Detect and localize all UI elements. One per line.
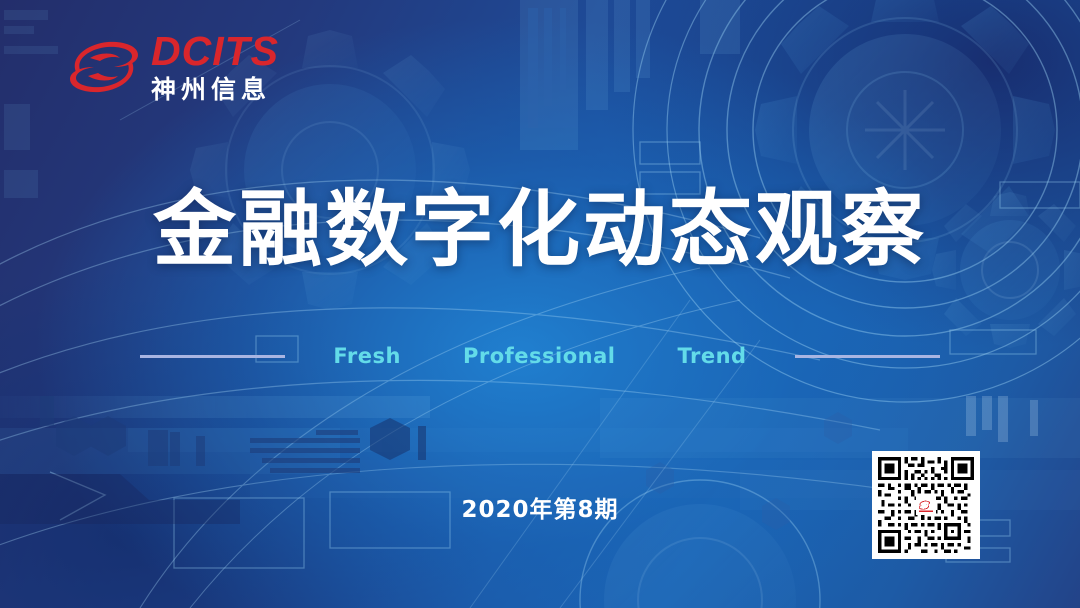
poster-canvas: DCITS 神州信息 金融数字化动态观察 Fresh Professional … [0, 0, 1080, 608]
tagline-trend: Trend [677, 344, 746, 368]
brand-name-cn: 神州信息 [151, 77, 279, 102]
page-title: 金融数字化动态观察 [0, 188, 1080, 271]
tagline-rule-left [140, 355, 285, 358]
tagline-row: Fresh Professional Trend [0, 340, 1080, 372]
wechat-qr-code[interactable] [872, 451, 980, 559]
tagline-fresh: Fresh [333, 344, 401, 368]
brand-logo-text: DCITS 神州信息 [151, 31, 279, 102]
brand-name-en: DCITS [151, 31, 279, 72]
tagline-rule-right [795, 355, 940, 358]
tagline-professional: Professional [463, 344, 616, 368]
brand-logo: DCITS 神州信息 [66, 31, 279, 102]
dcits-swoosh-icon [66, 32, 142, 102]
